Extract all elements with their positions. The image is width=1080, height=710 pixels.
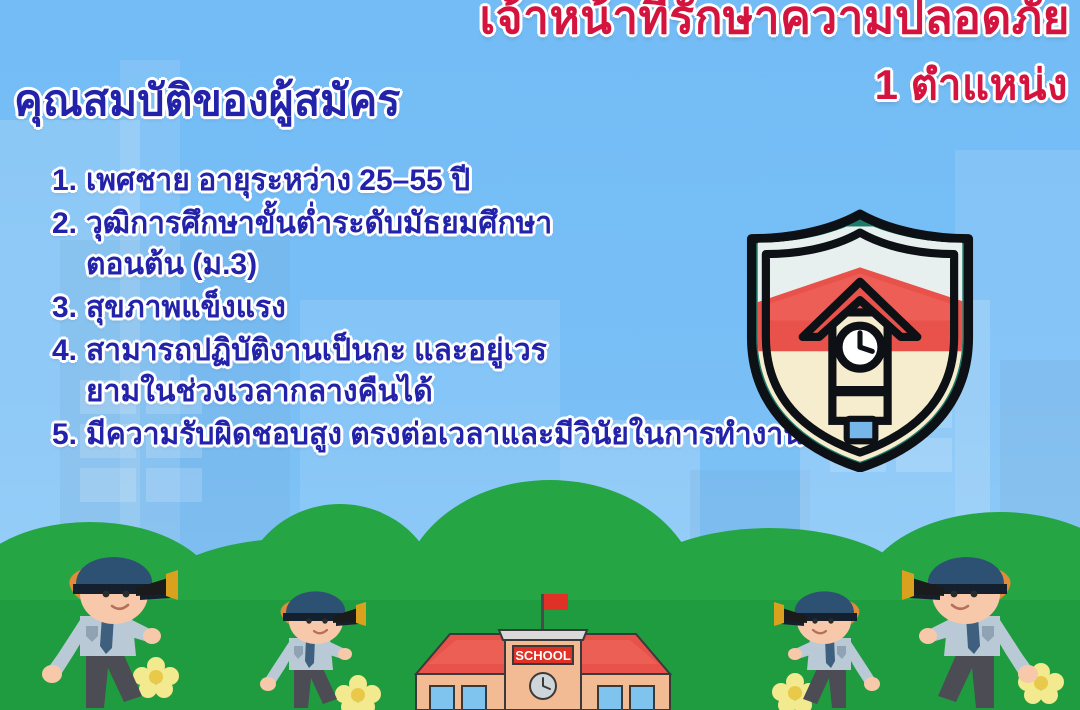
qualification-text: เพศชาย อายุระหว่าง 25–55 ปี — [86, 166, 470, 196]
section-heading-qualifications: คุณสมบัติของผู้สมัคร — [14, 78, 400, 125]
qualification-line: เพศชาย อายุระหว่าง 25–55 ปี — [86, 166, 470, 196]
school-building: SCHOOL — [398, 586, 688, 710]
qualification-number: 3. — [52, 293, 86, 323]
qualification-number: 4. — [52, 336, 86, 366]
qualification-line: สุขภาพแข็งแรง — [86, 293, 286, 323]
qualification-text: มีความรับผิดชอบสูง ตรงต่อเวลาและมีวินัยใ… — [86, 420, 804, 450]
qualification-line: มีความรับผิดชอบสูง ตรงต่อเวลาและมีวินัยใ… — [86, 420, 804, 450]
qualification-number: 2. — [52, 209, 86, 239]
position-count: 1 ตำแหน่ง — [875, 62, 1068, 108]
security-guard-figure — [28, 550, 208, 710]
qualification-line: ยามในช่วงเวลากลางคืนได้ — [86, 377, 547, 407]
qualification-line: ตอนต้น (ม.3) — [86, 250, 552, 280]
security-guard-figure — [248, 586, 388, 710]
qualification-text: สามารถปฏิบัติงานเป็นกะ และอยู่เวรยามในช่… — [86, 336, 547, 407]
school-sign-label: SCHOOL — [515, 648, 571, 663]
qualification-text: วุฒิการศึกษาขั้นต่ำระดับมัธยมศึกษาตอนต้น… — [86, 209, 552, 280]
poster-canvas: เจ้าหน้าที่รักษาความปลอดภัย 1 ตำแหน่ง คุ… — [0, 0, 1080, 710]
qualification-line: วุฒิการศึกษาขั้นต่ำระดับมัธยมศึกษา — [86, 209, 552, 239]
security-guard-figure — [872, 550, 1052, 710]
qualification-number: 5. — [52, 420, 86, 450]
qualification-number: 1. — [52, 166, 86, 196]
security-guard-figure — [752, 586, 892, 710]
qualification-line: สามารถปฏิบัติงานเป็นกะ และอยู่เวร — [86, 336, 547, 366]
school-shield-emblem — [727, 206, 993, 472]
poster-title: เจ้าหน้าที่รักษาความปลอดภัย — [0, 0, 1070, 43]
qualification-text: สุขภาพแข็งแรง — [86, 293, 286, 323]
qualification-item: 1.เพศชาย อายุระหว่าง 25–55 ปี — [52, 166, 1052, 196]
